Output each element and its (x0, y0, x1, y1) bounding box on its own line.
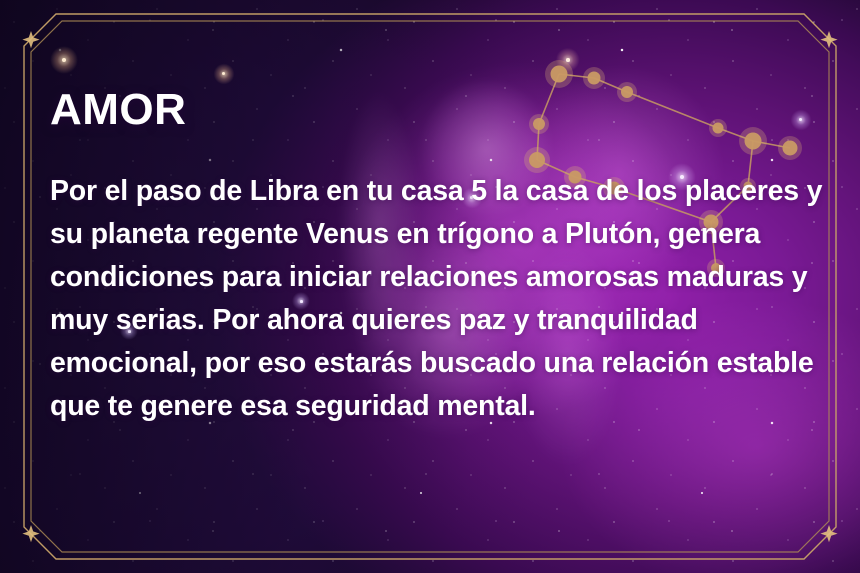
page-title: AMOR (50, 88, 840, 132)
bright-star (566, 58, 570, 62)
horoscope-card: AMOR Por el paso de Libra en tu casa 5 l… (0, 0, 860, 573)
horoscope-body-text: Por el paso de Libra en tu casa 5 la cas… (50, 170, 840, 428)
bright-star (62, 58, 66, 62)
bright-star (222, 72, 225, 75)
card-content: AMOR Por el paso de Libra en tu casa 5 l… (50, 88, 840, 428)
